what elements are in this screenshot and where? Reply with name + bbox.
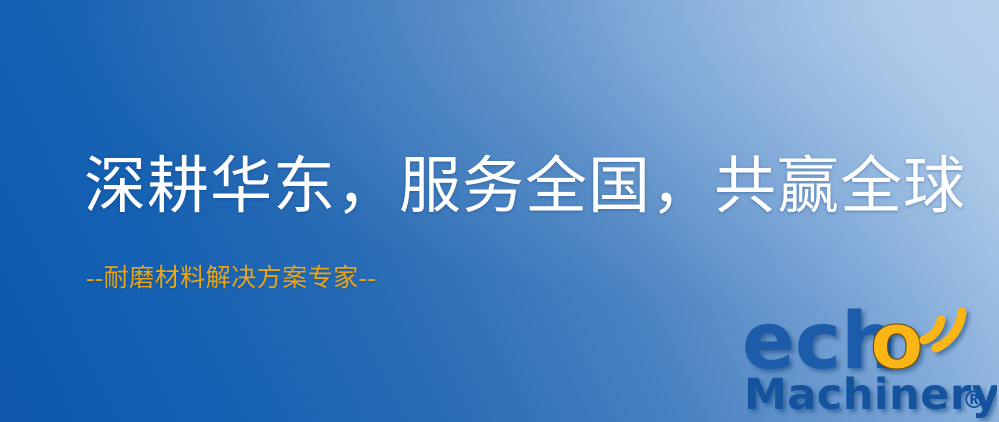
logo-text-machinery: Machinery xyxy=(744,370,997,420)
promo-banner: 深耕华东，服务全国，共赢全球 --耐磨材料解决方案专家-- ech o Mach… xyxy=(0,0,999,422)
banner-headline: 深耕华东，服务全国，共赢全球 xyxy=(84,151,966,224)
echo-machinery-logo[interactable]: ech o Machinery ® xyxy=(742,296,997,422)
signal-waves-icon xyxy=(924,312,962,348)
banner-subtitle: --耐磨材料解决方案专家-- xyxy=(86,264,376,294)
registered-trademark-icon: ® xyxy=(962,386,986,414)
